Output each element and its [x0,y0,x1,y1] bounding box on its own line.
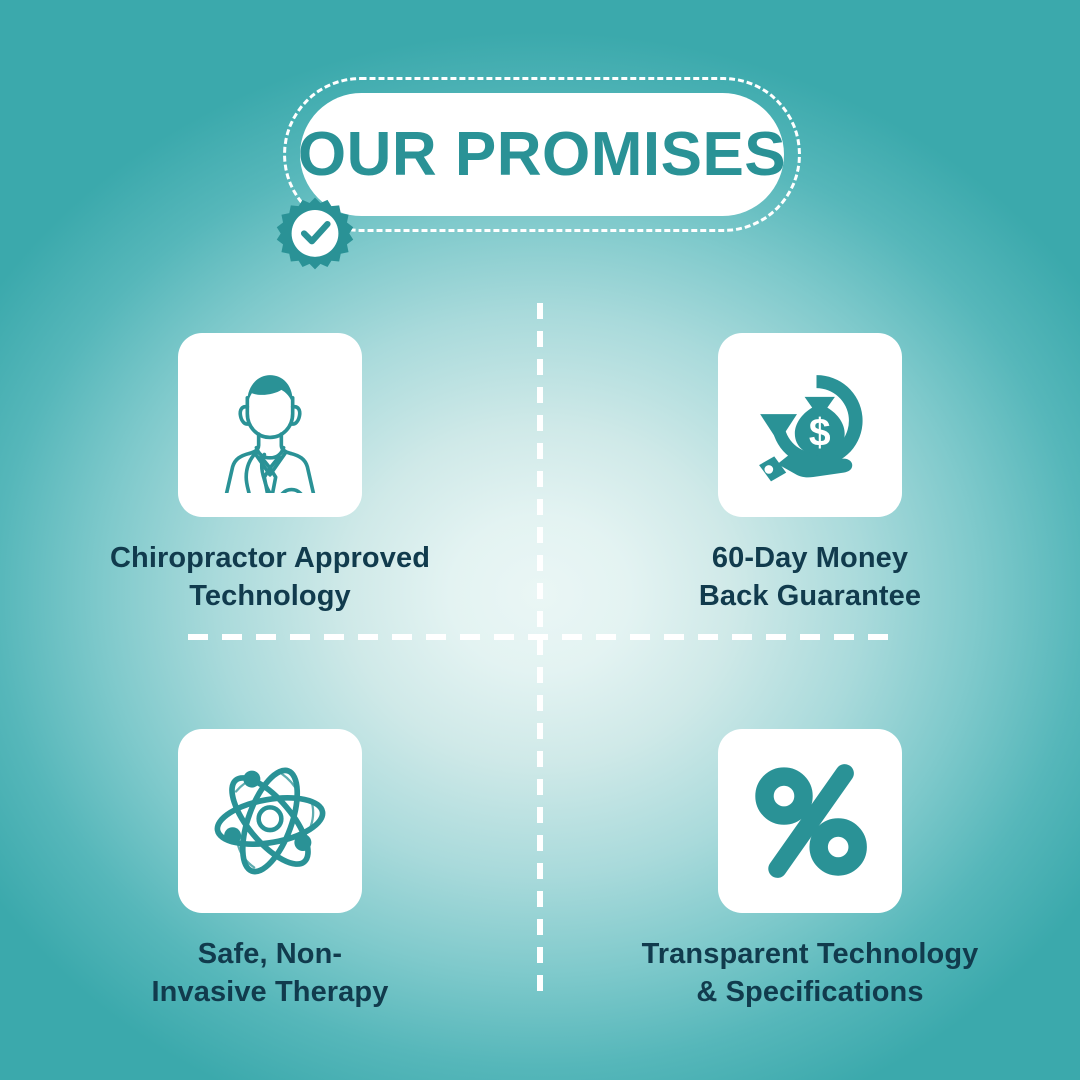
promise-caption: Transparent Technology & Specifications [642,935,979,1012]
promise-caption: 60-Day Money Back Guarantee [699,539,921,616]
promise-icon-card [178,729,362,913]
promises-grid: Chiropractor Approved Technology [0,300,1080,1020]
promise-icon-card [178,333,362,517]
promise-caption: Chiropractor Approved Technology [110,539,430,616]
money-back-hand-icon: $ [745,360,875,490]
promise-icon-card [718,729,902,913]
header-banner: OUR PROMISES [0,0,1080,290]
promise-caption: Safe, Non- Invasive Therapy [152,935,389,1012]
promise-item: Safe, Non- Invasive Therapy [0,634,540,1020]
doctor-stethoscope-icon [202,357,338,493]
promise-item: Transparent Technology & Specifications [540,634,1080,1020]
promise-item: $ 60-Day Money Back Guarantee [540,300,1080,634]
promise-item: Chiropractor Approved Technology [0,300,540,634]
header-pill: OUR PROMISES [300,93,784,216]
promise-icon-card: $ [718,333,902,517]
atom-icon [202,753,338,889]
check-seal-icon [276,196,354,274]
page-title: OUR PROMISES [298,124,786,186]
percent-icon [745,756,875,886]
promises-poster: OUR PROMISES [0,0,1080,1080]
svg-text:$: $ [809,412,831,455]
